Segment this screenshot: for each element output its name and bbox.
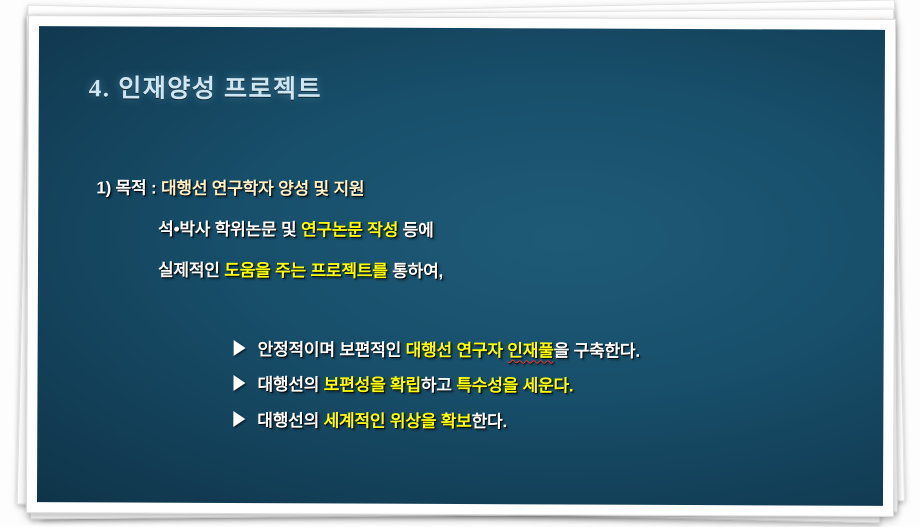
bullet-item-0-prefix: 안정적이며 보편적인 <box>258 340 406 360</box>
triangle-right-icon <box>233 411 245 427</box>
triangle-right-icon <box>233 375 245 391</box>
bullet-item-2-prefix: 대행선의 <box>257 411 323 430</box>
bullet-item-0: 안정적이며 보편적인 대행선 연구자 인재풀을 구축한다. <box>234 335 640 362</box>
bullet-item-1-prefix: 대행선의 <box>257 375 323 394</box>
purpose-line-1-value: 대행선 연구학자 양성 및 지원 <box>161 179 364 199</box>
slide-text-layer: 4. 인재양성 프로젝트 1) 목적 : 대행선 연구학자 양성 및 지원 석•… <box>37 26 885 506</box>
bullet-item-0-text: 안정적이며 보편적인 대행선 연구자 인재풀을 구축한다. <box>258 335 640 362</box>
purpose-line-3-prefix: 실제적인 <box>158 261 224 280</box>
bullet-item-1-highlight-2: 특수성을 세운다. <box>456 376 573 396</box>
bullet-item-1-highlight: 보편성을 확립 <box>324 375 421 394</box>
purpose-line-2-suffix: 등에 <box>398 221 433 240</box>
bullet-item-1: 대행선의 보편성을 확립하고 특수성을 세운다. <box>233 370 573 396</box>
bullet-item-0-suffix: 을 구축한다. <box>554 341 640 360</box>
bullet-item-0-misspelled: 인재풀 <box>507 341 553 360</box>
bullet-item-2-highlight: 세계적인 위상을 확보 <box>324 411 472 431</box>
presentation-slide-card: 4. 인재양성 프로젝트 1) 목적 : 대행선 연구학자 양성 및 지원 석•… <box>26 15 896 517</box>
purpose-line-2: 석•박사 학위논문 및 연구논문 작성 등에 <box>158 215 434 241</box>
slide-content-area: 4. 인재양성 프로젝트 1) 목적 : 대행선 연구학자 양성 및 지원 석•… <box>37 26 885 506</box>
bullet-item-2-suffix: 한다. <box>472 412 507 431</box>
slide-stage: 4. 인재양성 프로젝트 1) 목적 : 대행선 연구학자 양성 및 지원 석•… <box>0 0 920 527</box>
purpose-line-1: 1) 목적 : 대행선 연구학자 양성 및 지원 <box>96 173 364 199</box>
bullet-item-2: 대행선의 세계적인 위상을 확보한다. <box>233 406 507 432</box>
bullet-item-1-mid: 하고 <box>421 376 456 395</box>
purpose-line-2-highlight: 연구논문 작성 <box>301 220 398 239</box>
bullet-item-0-highlight: 대행선 연구자 <box>406 341 508 360</box>
purpose-line-3: 실제적인 도움을 주는 프로젝트를 통하여, <box>158 256 443 282</box>
purpose-line-2-prefix: 석•박사 학위논문 및 <box>158 220 301 240</box>
page-title: 4. 인재양성 프로젝트 <box>89 68 322 105</box>
bullet-item-1-text: 대행선의 보편성을 확립하고 특수성을 세운다. <box>257 370 573 396</box>
purpose-line-3-suffix: 통하여, <box>388 262 443 281</box>
purpose-line-1-label: 1) 목적 : <box>96 178 161 197</box>
purpose-line-3-highlight: 도움을 주는 프로젝트를 <box>224 261 388 281</box>
triangle-right-icon <box>234 340 246 356</box>
bullet-item-2-text: 대행선의 세계적인 위상을 확보한다. <box>257 406 507 432</box>
